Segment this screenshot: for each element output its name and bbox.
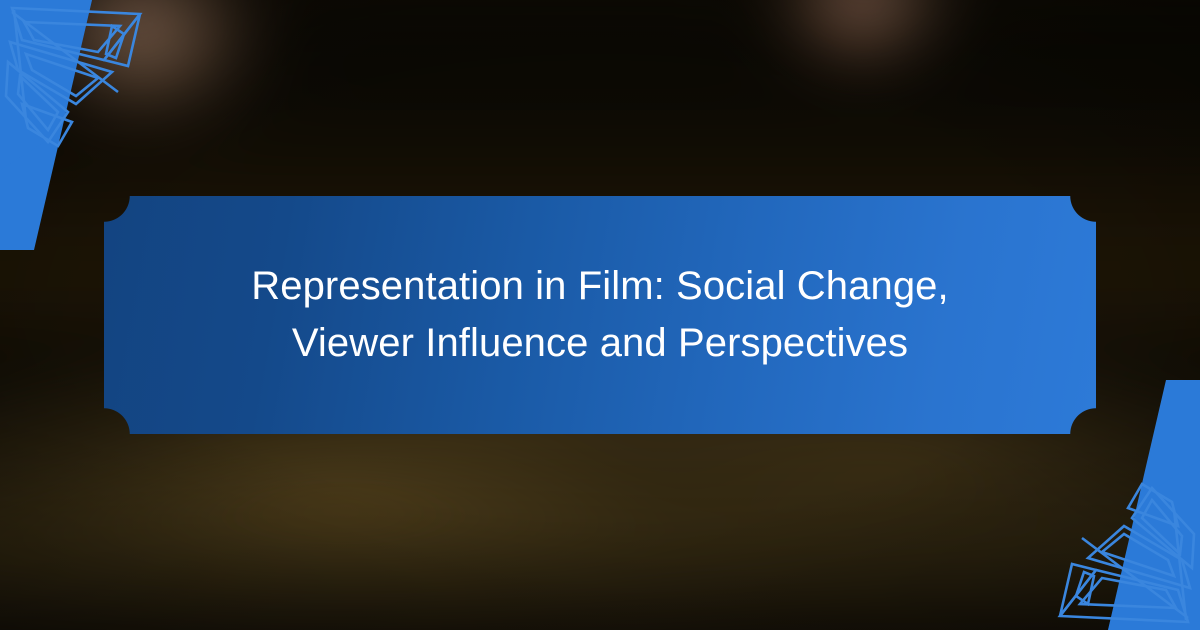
title-banner-wrapper: Representation in Film: Social Change, V… [104, 196, 1096, 434]
title-banner: Representation in Film: Social Change, V… [104, 196, 1096, 434]
title-card: Representation in Film: Social Change, V… [0, 0, 1200, 630]
page-title: Representation in Film: Social Change, V… [205, 258, 995, 372]
